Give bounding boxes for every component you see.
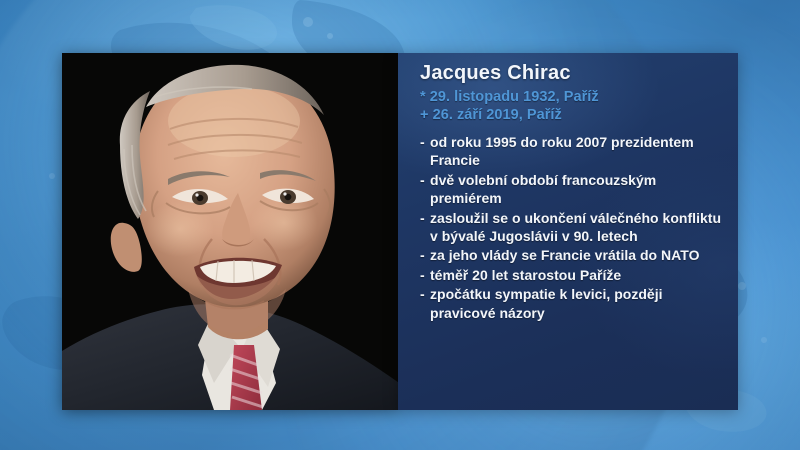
slide-canvas: Jacques Chirac * 29. listopadu 1932, Pař…	[0, 0, 800, 450]
list-item: - zpočátku sympatie k levici, později pr…	[420, 285, 726, 322]
list-item: - za jeho vlády se Francie vrátila do NA…	[420, 246, 726, 264]
list-item: - dvě volební období francouzským premié…	[420, 171, 726, 208]
list-item-label: zasloužil se o ukončení válečného konfli…	[430, 209, 726, 246]
bullet-dash-icon: -	[420, 266, 430, 284]
list-item: - zasloužil se o ukončení válečného konf…	[420, 209, 726, 246]
list-item: - téměř 20 let starostou Paříže	[420, 266, 726, 284]
fact-list: - od roku 1995 do roku 2007 prezidentem …	[420, 133, 726, 322]
list-item-label: téměř 20 let starostou Paříže	[430, 266, 726, 284]
bullet-dash-icon: -	[420, 246, 430, 264]
page-title: Jacques Chirac	[420, 61, 726, 85]
list-item-label: za jeho vlády se Francie vrátila do NATO	[430, 246, 726, 264]
list-item-label: od roku 1995 do roku 2007 prezidentem Fr…	[430, 133, 726, 170]
info-panel: Jacques Chirac * 29. listopadu 1932, Pař…	[398, 53, 738, 410]
bullet-dash-icon: -	[420, 285, 430, 303]
list-item-label: zpočátku sympatie k levici, později prav…	[430, 285, 726, 322]
death-date: + 26. září 2019, Paříž	[420, 107, 726, 125]
bullet-dash-icon: -	[420, 171, 430, 189]
birth-date: * 29. listopadu 1932, Paříž	[420, 89, 726, 107]
portrait-photo	[62, 53, 398, 410]
list-item: - od roku 1995 do roku 2007 prezidentem …	[420, 133, 726, 170]
portrait-illustration	[62, 53, 398, 410]
list-item-label: dvě volební období francouzským premiére…	[430, 171, 726, 208]
bullet-dash-icon: -	[420, 133, 430, 151]
bullet-dash-icon: -	[420, 209, 430, 227]
life-dates: * 29. listopadu 1932, Paříž + 26. září 2…	[420, 89, 726, 124]
